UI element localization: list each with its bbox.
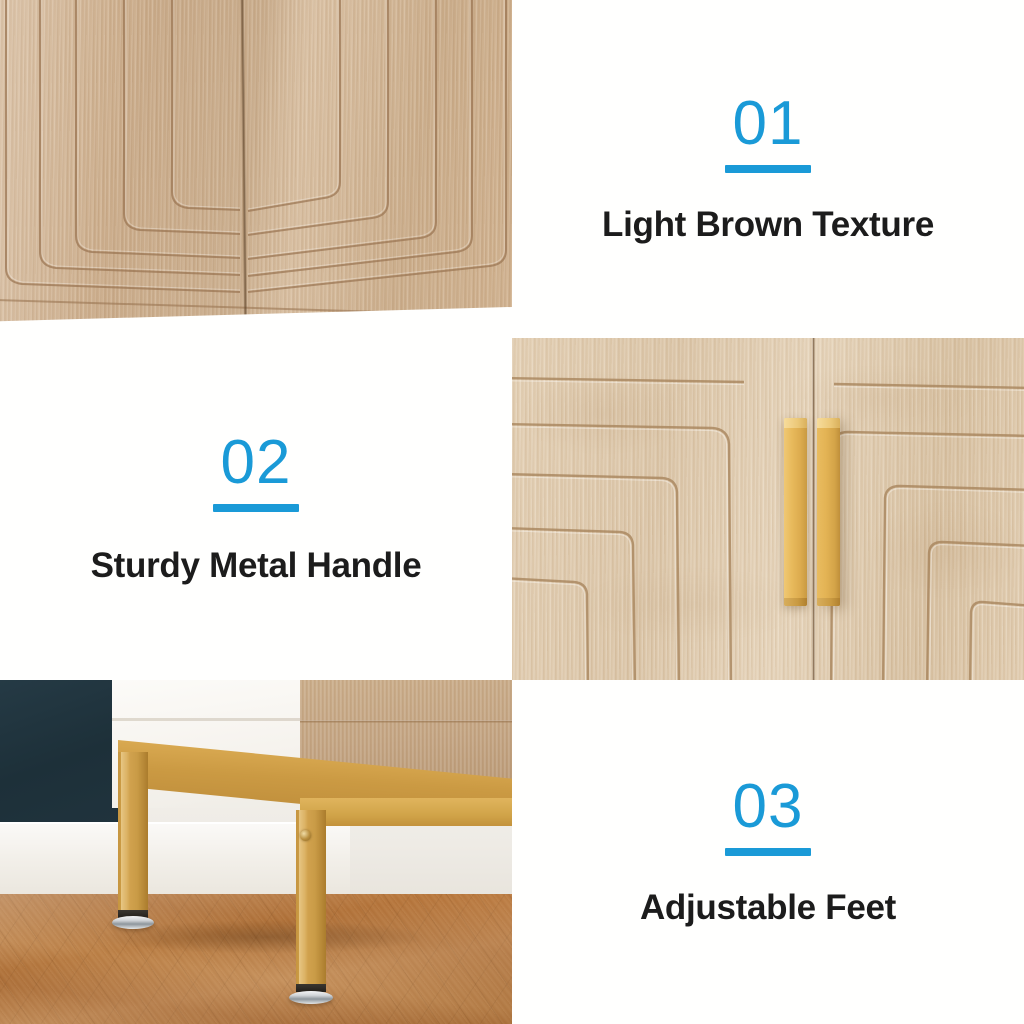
leg-screw	[300, 830, 311, 841]
feature-number-block-02: 02	[213, 432, 299, 512]
cabinet-door-groove	[300, 720, 512, 723]
feature-caption-02: Sturdy Metal Handle	[91, 546, 422, 586]
feature-number-02: 02	[221, 432, 292, 494]
feature-panel-03: 03 Adjustable Feet	[512, 680, 1024, 1024]
metal-handle-left-bar	[784, 418, 807, 606]
floor-gloss-overlay	[0, 894, 512, 1024]
feature-number-03: 03	[733, 776, 804, 838]
feature-panel-02: 02 Sturdy Metal Handle	[0, 338, 512, 680]
handle-door-groove-pattern	[512, 338, 1024, 680]
handle-right-top-bevel	[817, 418, 840, 428]
handle-left-bottom-bevel	[784, 598, 807, 606]
feature-number-block-03: 03	[725, 776, 811, 856]
door-groove-pattern	[0, 0, 512, 338]
feature-number-underline-03	[725, 848, 811, 856]
feature-number-underline-02	[213, 504, 299, 512]
gold-front-rail	[300, 798, 512, 826]
photo-sturdy-metal-handle	[512, 338, 1024, 680]
metal-handle-right-bar	[817, 418, 840, 606]
wall-navy-panel	[0, 680, 118, 825]
gold-leg-back	[118, 752, 148, 914]
feature-caption-01: Light Brown Texture	[602, 205, 934, 245]
photo-adjustable-feet	[0, 680, 512, 1024]
handle-door-center-seam	[812, 338, 815, 680]
handle-left-top-bevel	[784, 418, 807, 428]
feature-number-block-01: 01	[725, 93, 811, 173]
feature-panel-01: 01 Light Brown Texture	[512, 0, 1024, 338]
photo-light-brown-texture	[0, 0, 512, 338]
handle-right-bottom-bevel	[817, 598, 840, 606]
infographic-board: 01 Light Brown Texture 02 Sturdy Metal H…	[0, 0, 1024, 1024]
foot-front-chrome-pad	[289, 991, 333, 1004]
foot-back-chrome-pad	[112, 916, 154, 929]
feature-caption-03: Adjustable Feet	[640, 888, 896, 928]
feature-number-01: 01	[733, 93, 804, 155]
room-scene	[0, 680, 512, 1024]
leg-back-highlight	[121, 752, 130, 914]
feature-number-underline-01	[725, 165, 811, 173]
